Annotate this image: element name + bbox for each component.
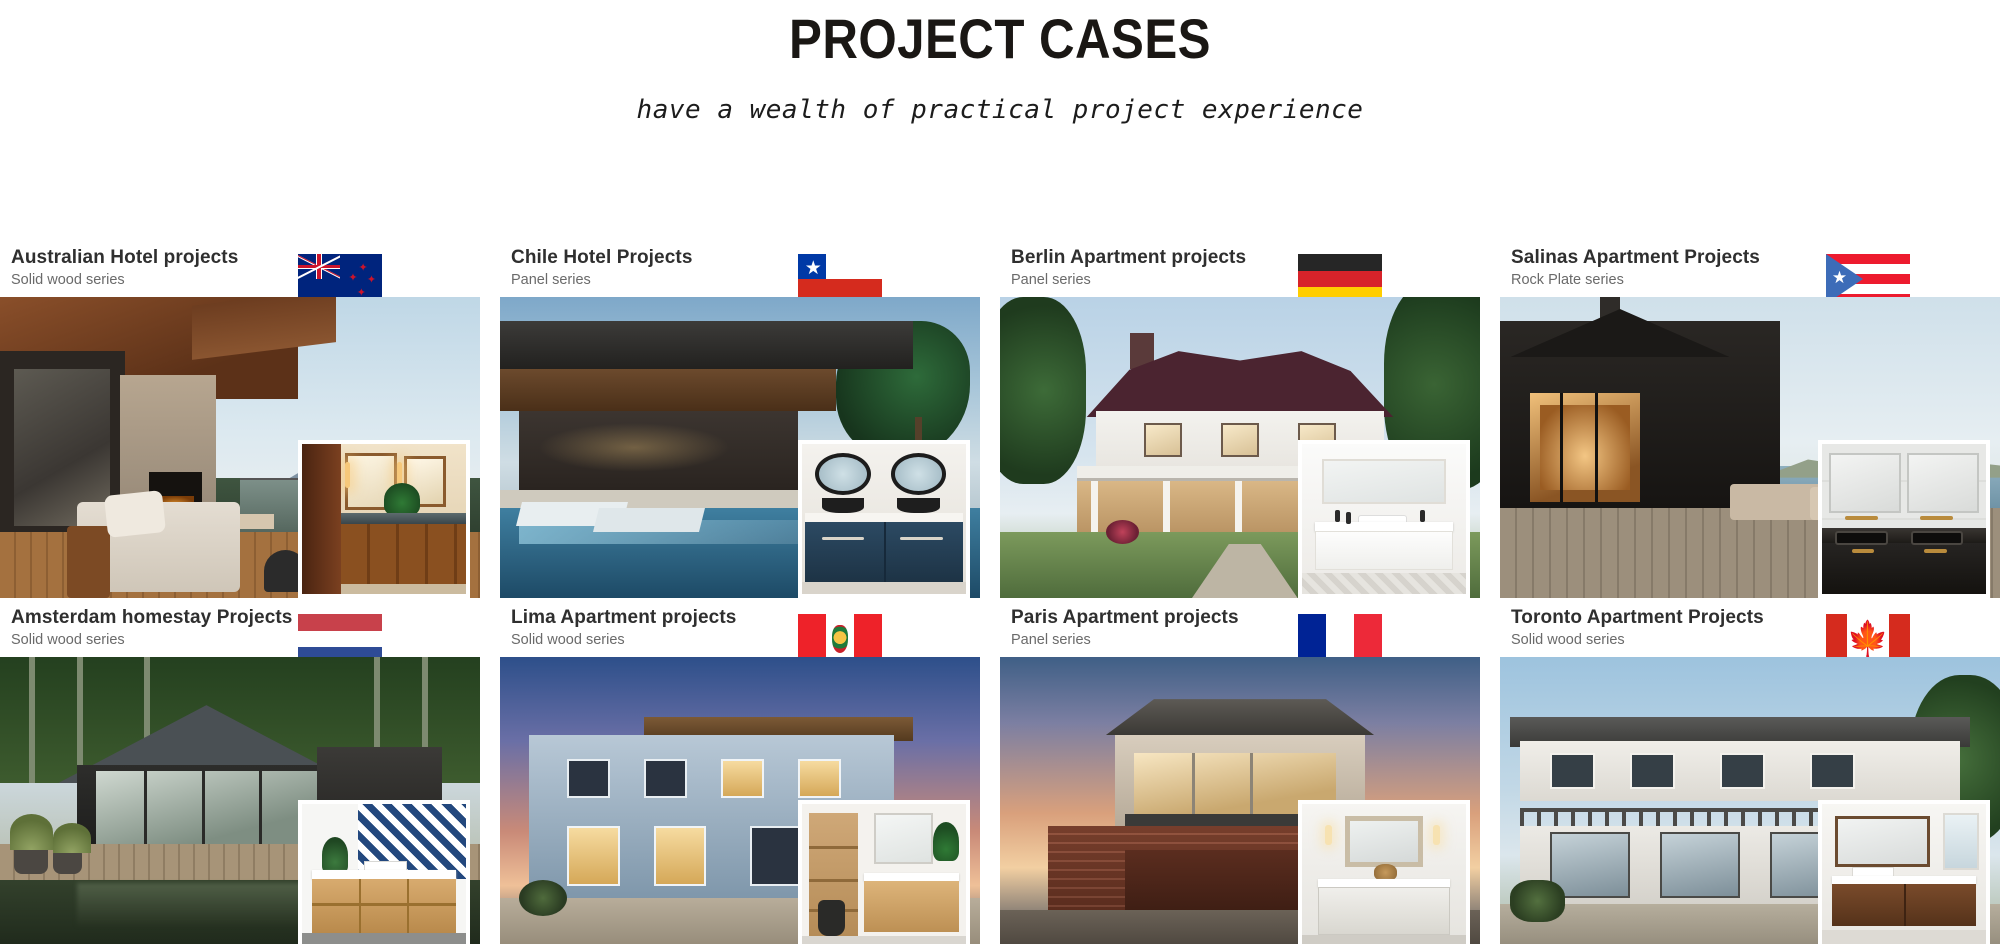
- case-title: Salinas Apartment Projects: [1511, 246, 2000, 270]
- case-photo[interactable]: [0, 657, 480, 944]
- case-header: Chile Hotel Projects Panel series ★: [500, 238, 1000, 297]
- case-header: Australian Hotel projects Solid wood ser…: [0, 238, 500, 297]
- case-title: Australian Hotel projects: [11, 246, 500, 270]
- case-photo[interactable]: [1000, 657, 1480, 944]
- case-card-toronto-apartment[interactable]: Toronto Apartment Projects Solid wood se…: [1500, 598, 2000, 944]
- case-series: Solid wood series: [1511, 632, 2000, 649]
- case-header: Paris Apartment projects Panel series: [1000, 598, 1500, 657]
- case-title: Toronto Apartment Projects: [1511, 606, 2000, 630]
- case-inset-thumbnail[interactable]: [798, 440, 970, 598]
- case-header: Lima Apartment projects Solid wood serie…: [500, 598, 1000, 657]
- case-title: Amsterdam homestay Projects: [11, 606, 500, 630]
- case-title: Lima Apartment projects: [511, 606, 1000, 630]
- case-inset-thumbnail[interactable]: [298, 440, 470, 598]
- case-header: Salinas Apartment Projects Rock Plate se…: [1500, 238, 2000, 297]
- case-series: Solid wood series: [511, 632, 1000, 649]
- case-inset-thumbnail[interactable]: [1818, 800, 1990, 944]
- page-header: PROJECT CASES have a wealth of practical…: [0, 0, 2000, 125]
- case-photo[interactable]: [500, 657, 980, 944]
- page-subtitle: have a wealth of practical project exper…: [0, 95, 2000, 125]
- case-card-paris-apartment[interactable]: Paris Apartment projects Panel series: [1000, 598, 1500, 944]
- case-photo[interactable]: [1000, 297, 1480, 598]
- case-inset-thumbnail[interactable]: [298, 800, 470, 944]
- project-cases-page: PROJECT CASES have a wealth of practical…: [0, 0, 2000, 944]
- case-card-lima-apartment[interactable]: Lima Apartment projects Solid wood serie…: [500, 598, 1000, 944]
- case-header: Berlin Apartment projects Panel series: [1000, 238, 1500, 297]
- case-card-amsterdam-homestay[interactable]: Amsterdam homestay Projects Solid wood s…: [0, 598, 500, 944]
- case-header: Toronto Apartment Projects Solid wood se…: [1500, 598, 2000, 657]
- case-inset-thumbnail[interactable]: [1298, 800, 1470, 944]
- case-card-chile-hotel[interactable]: Chile Hotel Projects Panel series ★: [500, 238, 1000, 598]
- case-header: Amsterdam homestay Projects Solid wood s…: [0, 598, 500, 657]
- case-photo[interactable]: [1500, 297, 2000, 598]
- case-card-australian-hotel[interactable]: Australian Hotel projects Solid wood ser…: [0, 238, 500, 598]
- case-title: Paris Apartment projects: [1011, 606, 1500, 630]
- case-photo[interactable]: [500, 297, 980, 598]
- case-series: Rock Plate series: [1511, 272, 2000, 289]
- case-photo[interactable]: [0, 297, 480, 598]
- case-inset-thumbnail[interactable]: [798, 800, 970, 944]
- case-title: Berlin Apartment projects: [1011, 246, 1500, 270]
- case-series: Solid wood series: [11, 632, 500, 649]
- case-inset-thumbnail[interactable]: [1298, 440, 1470, 598]
- case-card-salinas-apartment[interactable]: Salinas Apartment Projects Rock Plate se…: [1500, 238, 2000, 598]
- case-series: Panel series: [1011, 272, 1500, 289]
- project-cases-grid: Australian Hotel projects Solid wood ser…: [0, 238, 2000, 944]
- case-series: Panel series: [511, 272, 1000, 289]
- case-inset-thumbnail[interactable]: [1818, 440, 1990, 598]
- case-title: Chile Hotel Projects: [511, 246, 1000, 270]
- page-title: PROJECT CASES: [120, 10, 1880, 69]
- case-card-berlin-apartment[interactable]: Berlin Apartment projects Panel series: [1000, 238, 1500, 598]
- case-photo[interactable]: [1500, 657, 2000, 944]
- case-series: Panel series: [1011, 632, 1500, 649]
- case-series: Solid wood series: [11, 272, 500, 289]
